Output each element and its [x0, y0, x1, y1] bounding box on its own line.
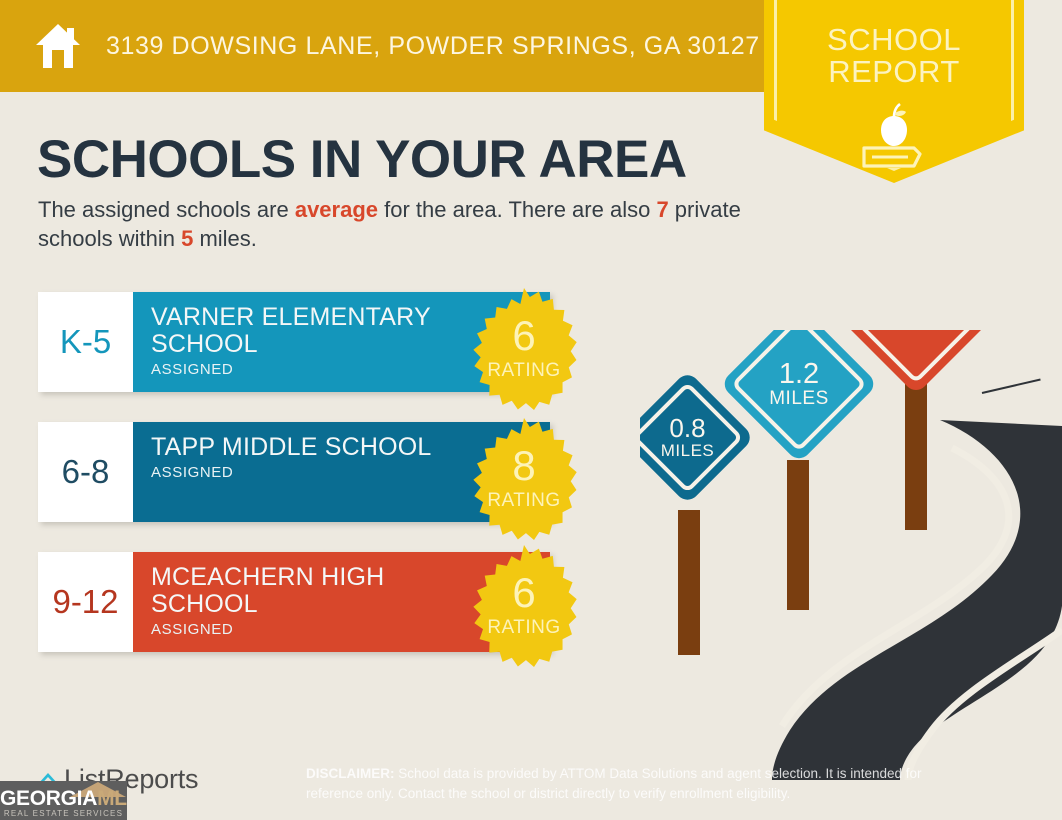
rating-label: RATING — [487, 490, 560, 512]
rating-label: RATING — [487, 360, 560, 382]
watermark-tagline: REAL ESTATE SERVICES — [0, 809, 127, 818]
subtitle-highlight-miles: 5 — [181, 226, 193, 251]
watermark-brand-secondary: MLS — [97, 787, 127, 810]
rating-badge: 6 RATING — [463, 288, 585, 410]
grade-level-badge: 6-8 — [38, 422, 133, 522]
sign-post — [787, 460, 809, 610]
subtitle-part1: The assigned schools are — [38, 197, 295, 222]
school-name: TAPP MIDDLE SCHOOL — [151, 434, 451, 461]
rating-value: 8 — [512, 446, 535, 486]
rating-badge: 6 RATING — [463, 545, 585, 667]
georgia-mls-watermark: GEORGIAMLS REAL ESTATE SERVICES — [0, 781, 127, 820]
grade-level-badge: 9-12 — [38, 552, 133, 652]
badge-title-line2: REPORT — [764, 56, 1024, 88]
disclaimer-text: School data is provided by ATTOM Data So… — [306, 766, 922, 801]
book-icon — [864, 148, 920, 166]
rating-value: 6 — [512, 316, 535, 356]
badge-title-line1: SCHOOL — [827, 22, 961, 57]
rating-value: 6 — [512, 573, 535, 613]
watermark-brand-primary: GEORGIA — [0, 787, 97, 810]
apple-icon — [881, 104, 907, 146]
school-name: MCEACHERN HIGH SCHOOL — [151, 564, 451, 618]
disclaimer: DISCLAIMER: School data is provided by A… — [306, 764, 946, 804]
subtitle-part4: miles. — [193, 226, 257, 251]
badge-icons — [764, 98, 1024, 170]
property-address: 3139 DOWSING LANE, POWDER SPRINGS, GA 30… — [106, 32, 760, 61]
watermark-brand: GEORGIAMLS — [0, 787, 127, 811]
rating-badge: 8 RATING — [463, 418, 585, 540]
home-icon — [32, 20, 84, 72]
header-bar: 3139 DOWSING LANE, POWDER SPRINGS, GA 30… — [0, 0, 764, 92]
school-name: VARNER ELEMENTARY SCHOOL — [151, 304, 451, 358]
road-scene-illustration: 0.8 MILES 1.2 MILES 1.2 MILES — [640, 330, 1062, 780]
sign-post — [678, 510, 700, 655]
subtitle-highlight-average: average — [295, 197, 378, 222]
disclaimer-label: DISCLAIMER: — [306, 766, 395, 781]
subtitle-part2: for the area. There are also — [378, 197, 656, 222]
rating-label: RATING — [487, 617, 560, 639]
school-report-infographic: 3139 DOWSING LANE, POWDER SPRINGS, GA 30… — [0, 0, 1062, 820]
subtitle-highlight-count: 7 — [656, 197, 668, 222]
grade-level-badge: K-5 — [38, 292, 133, 392]
badge-title: SCHOOL REPORT — [764, 24, 1024, 88]
subtitle: The assigned schools are average for the… — [38, 195, 758, 253]
page-title: SCHOOLS IN YOUR AREA — [37, 129, 687, 190]
